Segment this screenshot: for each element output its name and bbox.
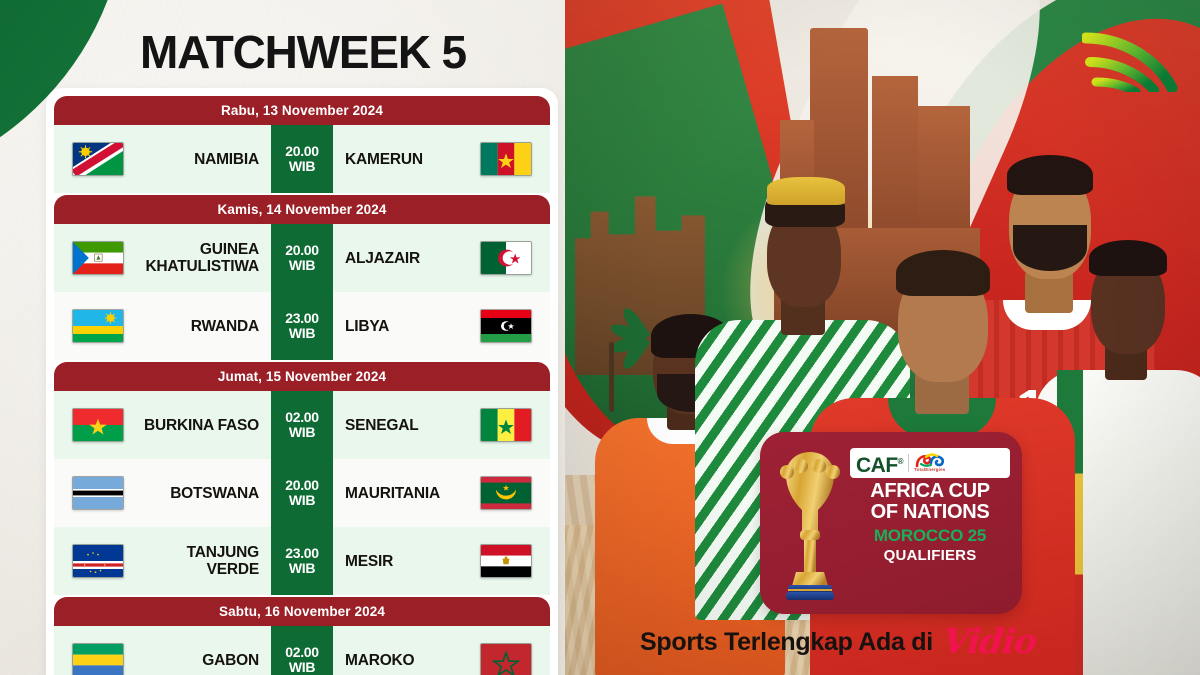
match-time: 02.00WIB [271,626,333,675]
match-time-value: 20.00 [285,478,319,493]
totalenergies-name: TotalEnergies [914,468,945,472]
match-group: BURKINA FASO02.00WIBSENEGAL BOTSWANA20.0… [54,391,550,595]
vidio-logo: Vidio [941,625,1038,659]
flag-gabon-icon [72,643,124,675]
away-flag-cell [462,459,550,527]
match-time-value: 02.00 [285,410,319,425]
competition-stage: QUALIFIERS [850,547,1010,565]
flag-botswana-icon [72,476,124,510]
competition-title-line2: OF NATIONS [850,502,1010,523]
away-team-name: MAURITANIA [333,459,462,527]
match-time: 23.00WIB [271,292,333,360]
registered-mark: ® [898,457,903,466]
away-team-name: SENEGAL [333,391,462,459]
away-flag-cell [462,527,550,595]
home-flag-cell [54,224,142,292]
away-team-name: LIBYA [333,292,462,360]
flag-burkina-faso-icon [72,408,124,442]
match-group: GUINEA KHATULISTIWA20.00WIBALJAZAIR RWAN… [54,224,550,360]
match-time-value: 20.00 [285,243,319,258]
broadcast-arc-icon [1082,22,1178,92]
totalenergies-logo: TotalEnergies [914,453,945,472]
match-time-value: 23.00 [285,546,319,561]
match-time: 20.00WIB [271,125,333,193]
match-time: 23.00WIB [271,527,333,595]
logo-divider [908,454,909,472]
match-time: 20.00WIB [271,459,333,527]
match-time: 20.00WIB [271,224,333,292]
home-team-name: RWANDA [142,292,271,360]
flag-rwanda-icon [72,309,124,343]
home-team-name: BOTSWANA [142,459,271,527]
match-time: 02.00WIB [271,391,333,459]
away-flag-cell [462,125,550,193]
match-row[interactable]: BOTSWANA20.00WIBMAURITANIA [54,459,550,527]
flag-mauritania-icon [480,476,532,510]
away-flag-cell [462,292,550,360]
date-header: Rabu, 13 November 2024 [54,96,550,125]
date-header: Kamis, 14 November 2024 [54,195,550,224]
flag-libya-icon [480,309,532,343]
match-time-unit: WIB [289,425,315,440]
home-team-name: GUINEA KHATULISTIWA [142,224,271,292]
poster-canvas: 10 2 [0,0,1200,675]
flag-algeria-icon [480,241,532,275]
flag-namibia-icon [72,142,124,176]
away-flag-cell [462,391,550,459]
flag-cape-verde-icon [72,544,124,578]
schedule-card: Rabu, 13 November 2024 NAMIBIA20.00WIBKA… [46,88,558,675]
match-row[interactable]: GUINEA KHATULISTIWA20.00WIBALJAZAIR [54,224,550,292]
away-team-name: MESIR [333,527,462,595]
date-header: Sabtu, 16 November 2024 [54,597,550,626]
home-team-name: TANJUNG VERDE [142,527,271,595]
home-team-name: NAMIBIA [142,125,271,193]
match-time-unit: WIB [289,326,315,341]
home-flag-cell [54,391,142,459]
caf-logo-bar: CAF® TotalEnergies [850,448,1010,478]
flag-egypt-icon [480,544,532,578]
home-flag-cell [54,527,142,595]
page-title: MATCHWEEK 5 [140,26,466,78]
match-time-unit: WIB [289,493,315,508]
away-flag-cell [462,626,550,675]
host-edition: MOROCCO 25 [850,526,1010,546]
date-header: Jumat, 15 November 2024 [54,362,550,391]
home-flag-cell [54,292,142,360]
caf-competition-badge: CAF® TotalEnergies AFRICA CUP OF NATIONS… [760,432,1022,614]
home-flag-cell [54,125,142,193]
match-time-unit: WIB [289,258,315,273]
match-time-value: 20.00 [285,144,319,159]
match-row[interactable]: BURKINA FASO02.00WIBSENEGAL [54,391,550,459]
flag-cameroon-icon [480,142,532,176]
flag-morocco-icon [480,643,532,675]
match-group: GABON02.00WIBMAROKO [54,626,550,675]
tagline: Sports Terlengkap Ada di Vidio [640,620,1160,664]
flag-equatorial-guinea-icon [72,241,124,275]
caf-wordmark: CAF® [856,451,903,476]
away-team-name: MAROKO [333,626,462,675]
match-time-value: 23.00 [285,311,319,326]
trophy-icon [774,446,846,602]
match-row[interactable]: GABON02.00WIBMAROKO [54,626,550,675]
match-row[interactable]: TANJUNG VERDE23.00WIBMESIR [54,527,550,595]
away-team-name: KAMERUN [333,125,462,193]
match-time-unit: WIB [289,159,315,174]
competition-title-line1: AFRICA CUP [850,481,1010,502]
home-team-name: GABON [142,626,271,675]
match-row[interactable]: RWANDA23.00WIBLIBYA [54,292,550,360]
tagline-text: Sports Terlengkap Ada di [640,628,933,657]
match-row[interactable]: NAMIBIA20.00WIBKAMERUN [54,125,550,193]
home-flag-cell [54,459,142,527]
away-team-name: ALJAZAIR [333,224,462,292]
match-time-unit: WIB [289,561,315,576]
home-team-name: BURKINA FASO [142,391,271,459]
caf-text-block: CAF® TotalEnergies AFRICA CUP OF NATIONS… [850,448,1012,565]
match-group: NAMIBIA20.00WIBKAMERUN [54,125,550,193]
match-time-value: 02.00 [285,645,319,660]
home-flag-cell [54,626,142,675]
away-flag-cell [462,224,550,292]
totalenergies-icon [915,453,945,468]
match-time-unit: WIB [289,660,315,675]
flag-senegal-icon [480,408,532,442]
